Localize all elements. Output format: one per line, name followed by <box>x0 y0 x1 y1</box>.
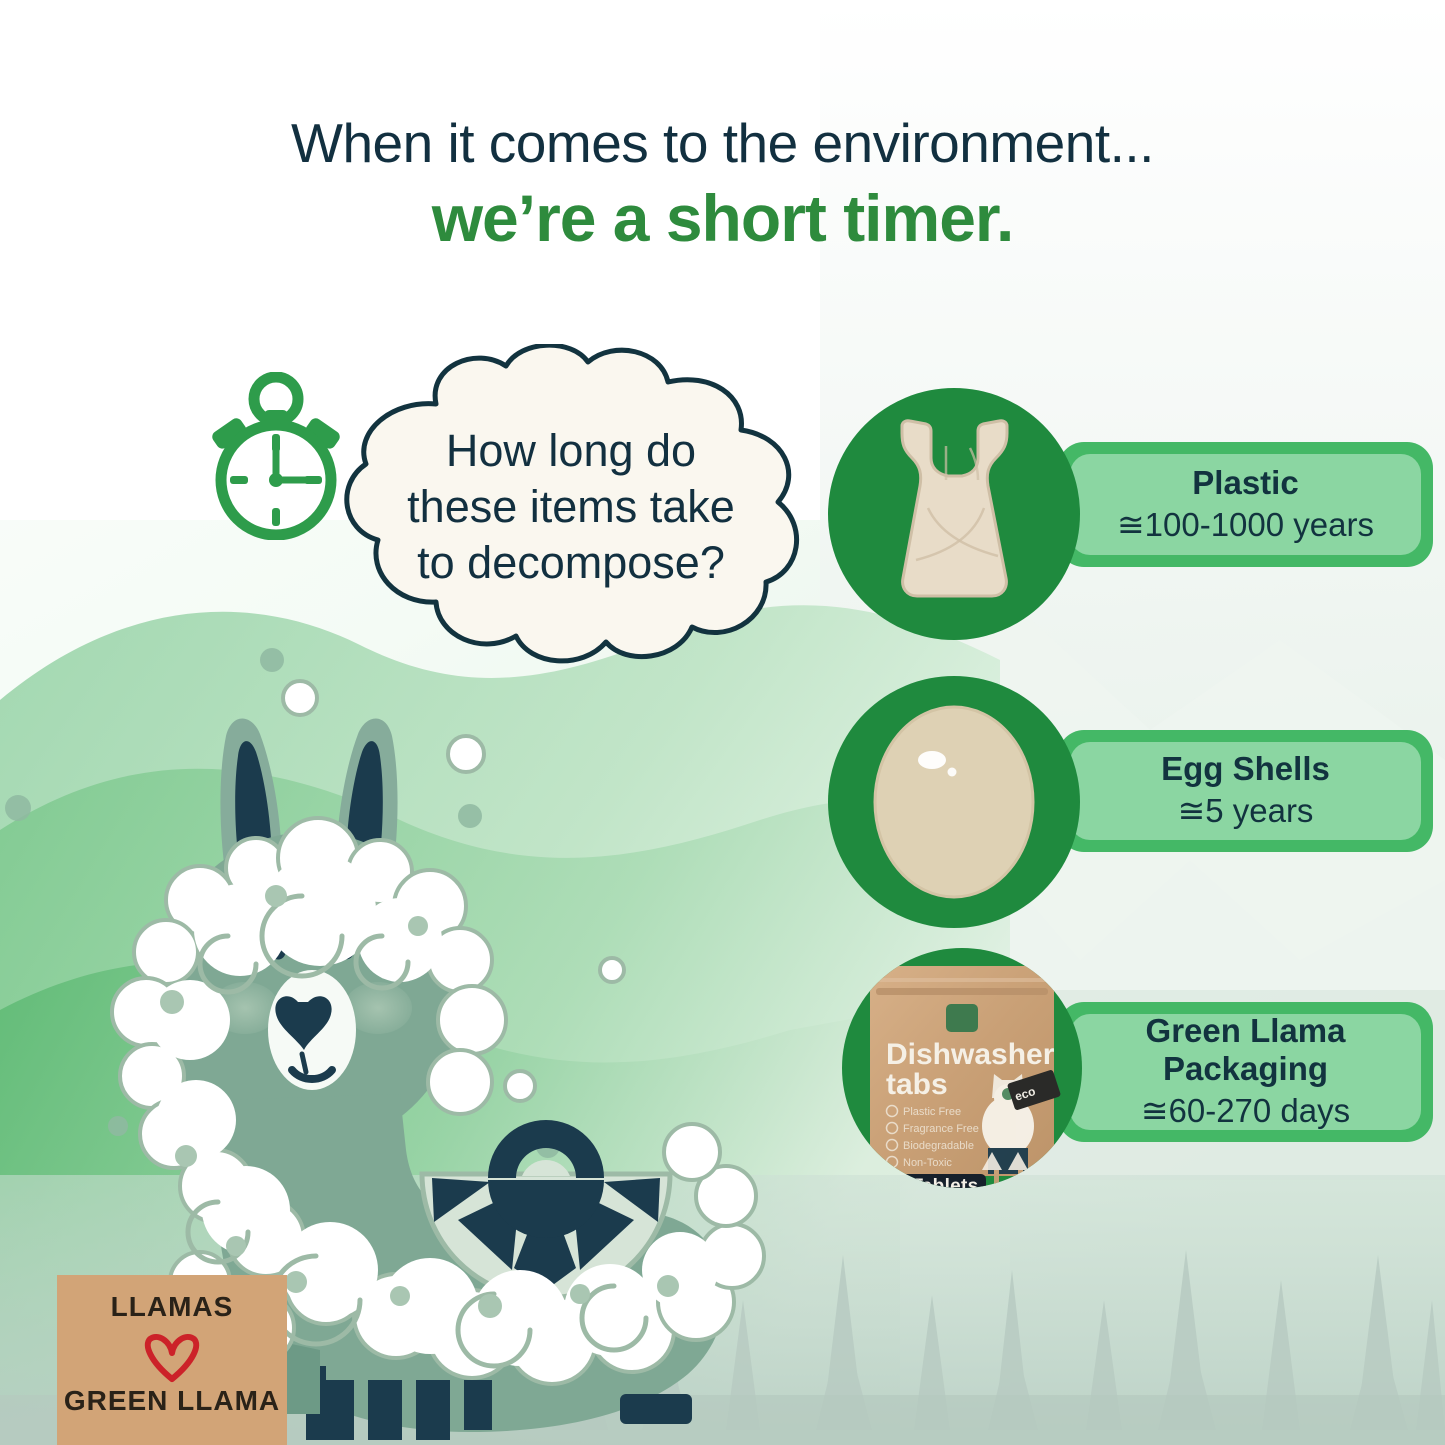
plastic-bag-circle[interactable] <box>828 388 1080 640</box>
product-pouch-circle[interactable]: Dishwasher tabs Plastic Free Fragrance F… <box>842 948 1082 1188</box>
plastic-card[interactable]: Plastic ≅100-1000 years <box>1070 454 1421 555</box>
bubble-line-3: to decompose? <box>417 535 725 591</box>
svg-text:Biodegradable: Biodegradable <box>903 1140 974 1152</box>
thought-bubble: How long do these items take to decompos… <box>316 344 826 674</box>
plastic-bag-icon <box>828 388 1080 640</box>
egg-shell-circle[interactable] <box>828 676 1080 928</box>
egg-title: Egg Shells <box>1161 750 1330 788</box>
svg-text:Dishwasher: Dishwasher <box>886 1038 1055 1071</box>
packaging-title-line-1: Green Llama <box>1146 1012 1346 1050</box>
thought-bubble-text: How long do these items take to decompos… <box>376 392 766 622</box>
sign-line-3: GREEN LLAMA <box>57 1385 287 1417</box>
headline-block: When it comes to the environment... we’r… <box>0 112 1445 256</box>
packaging-title-line-2: Packaging <box>1163 1050 1328 1088</box>
plastic-title: Plastic <box>1192 464 1298 502</box>
product-pouch-icon: Dishwasher tabs Plastic Free Fragrance F… <box>842 948 1082 1188</box>
egg-value: ≅5 years <box>1178 790 1314 832</box>
infographic-canvas: When it comes to the environment... we’r… <box>0 0 1445 1445</box>
svg-text:Non-Toxic: Non-Toxic <box>903 1157 952 1169</box>
plastic-value: ≅100-1000 years <box>1117 504 1374 546</box>
egg-card[interactable]: Egg Shells ≅5 years <box>1070 742 1421 840</box>
stopwatch-icon <box>196 372 356 540</box>
pouch-count-badge: 40 Tablets <box>884 1176 979 1188</box>
packaging-value: ≅60-270 days <box>1141 1090 1350 1132</box>
svg-text:tabs: tabs <box>886 1068 948 1101</box>
headline-line-2: we’re a short timer. <box>0 180 1445 256</box>
cardboard-sign[interactable]: LLAMAS GREEN LLAMA <box>57 1275 287 1445</box>
heart-icon <box>142 1331 202 1385</box>
sign-line-1: LLAMAS <box>57 1291 287 1323</box>
headline-line-1: When it comes to the environment... <box>0 112 1445 174</box>
bubble-line-1: How long do <box>446 423 696 479</box>
svg-text:Plastic Free: Plastic Free <box>903 1106 961 1118</box>
bubble-line-2: these items take <box>407 479 735 535</box>
svg-text:Fragrance Free: Fragrance Free <box>903 1123 979 1135</box>
egg-shell-icon <box>828 676 1080 928</box>
packaging-card[interactable]: Green Llama Packaging ≅60-270 days <box>1070 1014 1421 1130</box>
